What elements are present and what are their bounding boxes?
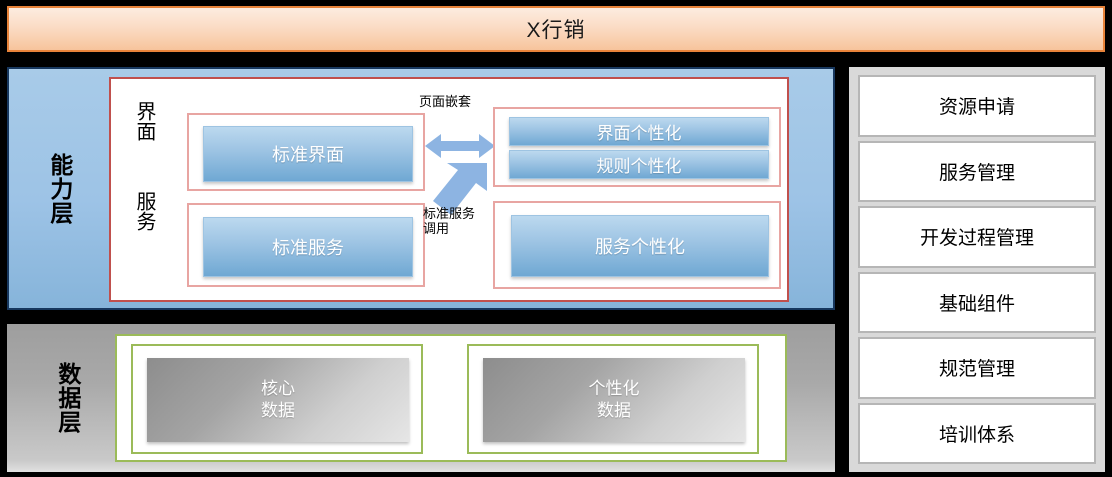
diagram-title-bar: X行销 <box>7 6 1105 52</box>
connector-column: 页面嵌套 标准服务调用 <box>427 79 493 304</box>
personalized-data-line2: 数据 <box>597 400 631 422</box>
standard-service-call-label: 标准服务调用 <box>423 207 485 237</box>
standard-service-chip[interactable]: 标准服务 <box>203 217 413 277</box>
capability-layer-label: 能力层 <box>47 153 72 225</box>
sidebar-item-resource-application[interactable]: 资源申请 <box>858 75 1096 137</box>
page-nesting-label: 页面嵌套 <box>419 95 471 110</box>
sidebar-item-service-management[interactable]: 服务管理 <box>858 141 1096 203</box>
personalized-service-group: 服务个性化 <box>493 201 781 289</box>
core-data-line1: 核心 <box>261 378 295 400</box>
standard-interface-group: 标准界面 <box>187 113 425 191</box>
interface-personalization-chip[interactable]: 界面个性化 <box>509 117 769 146</box>
personalized-interface-group: 界面个性化 规则个性化 <box>493 107 781 187</box>
row-label-interface: 界面 <box>133 101 154 141</box>
diagram-canvas: X行销 能力层 界面 服务 标准界面 标准服务 页面嵌套 <box>0 0 1112 477</box>
core-data-line2: 数据 <box>261 400 295 422</box>
data-layer-panel: 数据层 核心 数据 个性化 数据 <box>7 324 835 472</box>
personalized-data-group: 个性化 数据 <box>467 344 759 454</box>
service-personalization-chip[interactable]: 服务个性化 <box>511 215 769 277</box>
standard-interface-chip[interactable]: 标准界面 <box>203 126 413 182</box>
personalized-data-line1: 个性化 <box>589 378 640 400</box>
rule-personalization-chip[interactable]: 规则个性化 <box>509 150 769 179</box>
sidebar-item-development-process-management[interactable]: 开发过程管理 <box>858 206 1096 268</box>
capability-content-frame: 界面 服务 标准界面 标准服务 页面嵌套 <box>109 77 789 302</box>
page-title: X行销 <box>526 14 585 44</box>
sidebar-item-standard-management[interactable]: 规范管理 <box>858 337 1096 399</box>
standard-service-group: 标准服务 <box>187 203 425 287</box>
core-data-chip[interactable]: 核心 数据 <box>147 358 409 442</box>
data-content-frame: 核心 数据 个性化 数据 <box>115 334 787 462</box>
row-label-service: 服务 <box>133 191 154 231</box>
sidebar-item-basic-components[interactable]: 基础组件 <box>858 272 1096 334</box>
core-data-group: 核心 数据 <box>131 344 423 454</box>
data-layer-label: 数据层 <box>55 362 80 434</box>
support-sidebar: 资源申请 服务管理 开发过程管理 基础组件 规范管理 培训体系 <box>849 67 1105 472</box>
personalized-data-chip[interactable]: 个性化 数据 <box>483 358 745 442</box>
capability-layer-panel: 能力层 界面 服务 标准界面 标准服务 页面嵌套 <box>7 67 835 310</box>
sidebar-item-training-system[interactable]: 培训体系 <box>858 403 1096 465</box>
